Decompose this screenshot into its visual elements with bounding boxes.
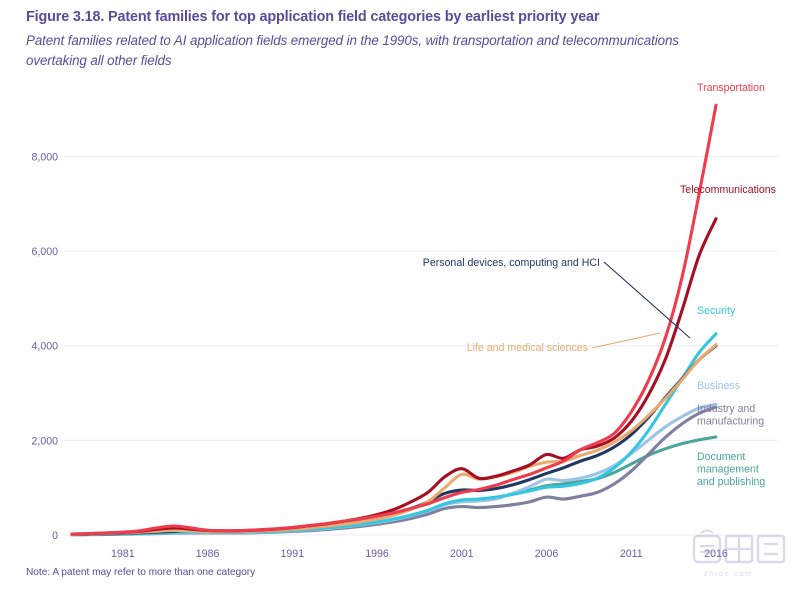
series-label: management [697, 464, 759, 476]
y-axis-tick-labels: 02,0004,0006,0008,000 [31, 151, 58, 542]
series-label: Personal devices, computing and HCI [423, 257, 600, 269]
x-tick-label: 1986 [196, 548, 220, 560]
series-labels: TransportationTelecommunicationsLife and… [423, 82, 776, 488]
figure-container: Figure 3.18. Patent families for top app… [0, 0, 800, 591]
series-label: Telecommunications [680, 184, 776, 196]
figure-note: Note: A patent may refer to more than on… [26, 567, 255, 578]
x-tick-label: 2001 [450, 548, 474, 560]
x-tick-label: 1981 [111, 548, 135, 560]
y-tick-label: 0 [52, 530, 58, 542]
series-label: manufacturing [697, 416, 764, 428]
series-line [72, 219, 716, 534]
x-tick-label: 2011 [620, 548, 643, 560]
watermark-domain: z h i d x . c o m [704, 571, 751, 578]
series-label: Industry and [697, 403, 755, 415]
series-label: Business [697, 380, 740, 392]
y-tick-label: 6,000 [31, 246, 58, 258]
x-tick-label: 2016 [704, 548, 728, 560]
line-chart: 02,0004,0006,0008,000 198119861991199620… [0, 0, 800, 560]
series-label: Document [697, 451, 745, 463]
series-label: and publishing [697, 476, 765, 488]
x-axis-tick-labels: 19811986199119962001200620112016 [111, 548, 728, 560]
y-tick-label: 4,000 [31, 341, 58, 353]
series-lines [72, 105, 716, 535]
y-tick-label: 8,000 [31, 151, 58, 163]
x-tick-label: 1991 [281, 548, 305, 560]
series-label: Security [697, 305, 736, 317]
y-tick-label: 2,000 [31, 435, 58, 447]
series-label: Life and medical sciences [467, 342, 588, 354]
series-label: Transportation [697, 82, 765, 94]
x-tick-label: 1996 [365, 548, 389, 560]
series-line [72, 345, 716, 535]
x-tick-label: 2006 [535, 548, 559, 560]
